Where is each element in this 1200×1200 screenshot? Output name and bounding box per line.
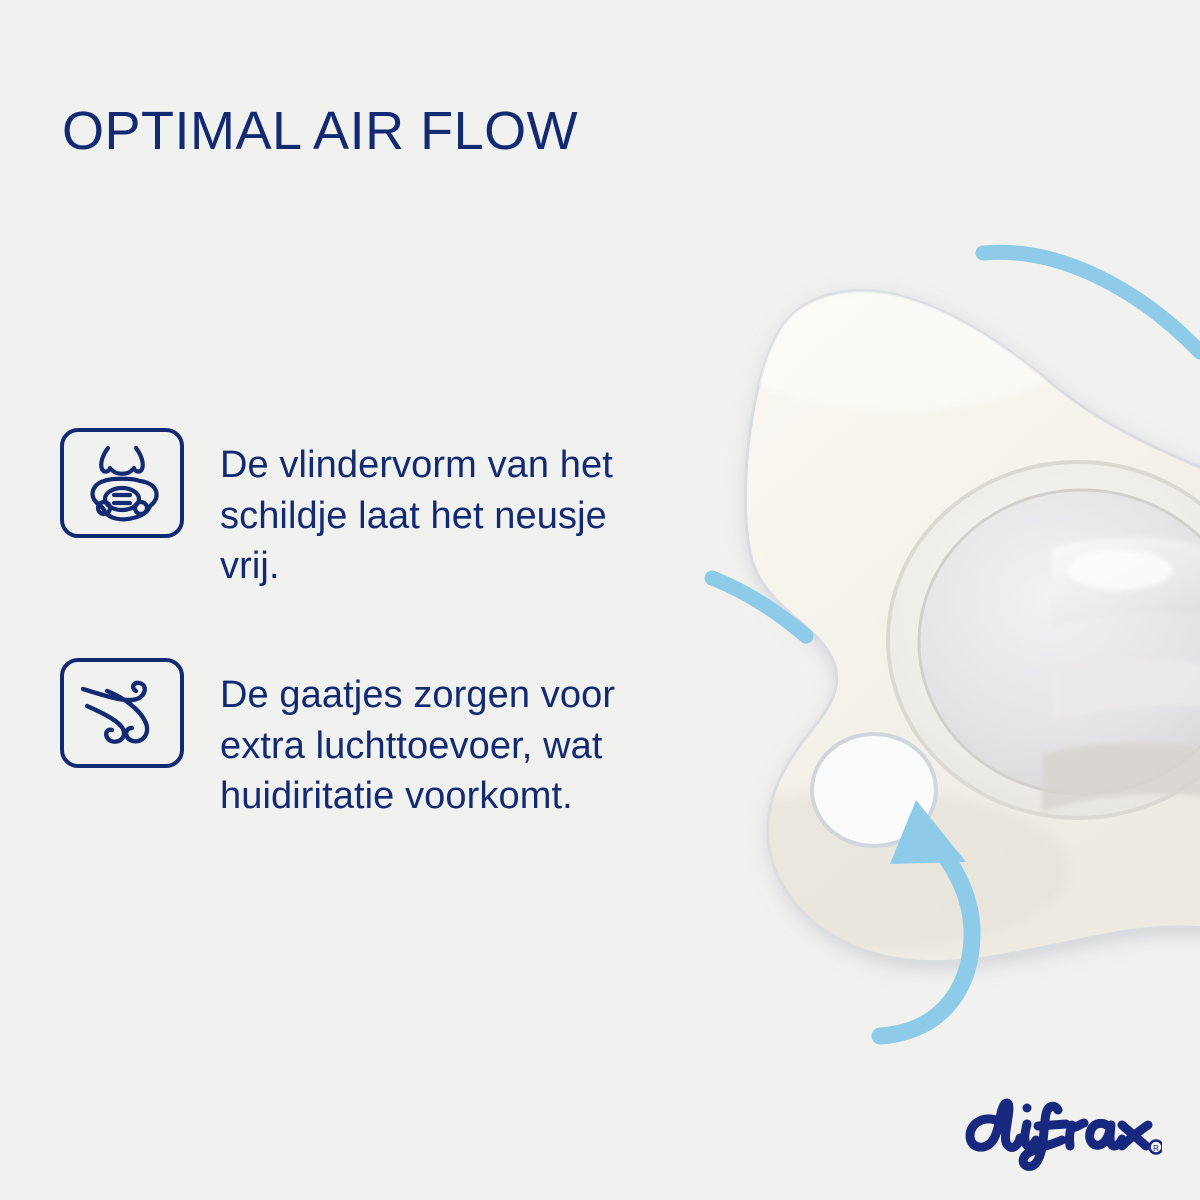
infographic-canvas: OPTIMAL AIR FLOW <box>0 0 1200 1200</box>
airflow-wind-icon <box>60 658 184 768</box>
feature-row-air-holes: De gaatjes zorgen voor extra luchttoevoe… <box>60 658 620 822</box>
brand-logo: R <box>962 1092 1162 1178</box>
page-title: OPTIMAL AIR FLOW <box>62 103 578 160</box>
feature-text-air-holes: De gaatjes zorgen voor extra luchttoevoe… <box>220 658 620 822</box>
feature-text-butterfly-shape: De vlindervorm van het schildje laat het… <box>220 428 620 592</box>
svg-text:R: R <box>1153 1144 1159 1153</box>
ventilation-hole <box>812 734 936 846</box>
feature-row-butterfly-shape: De vlindervorm van het schildje laat het… <box>60 428 620 592</box>
product-image <box>600 230 1200 1020</box>
pacifier-nose-icon <box>60 428 184 538</box>
